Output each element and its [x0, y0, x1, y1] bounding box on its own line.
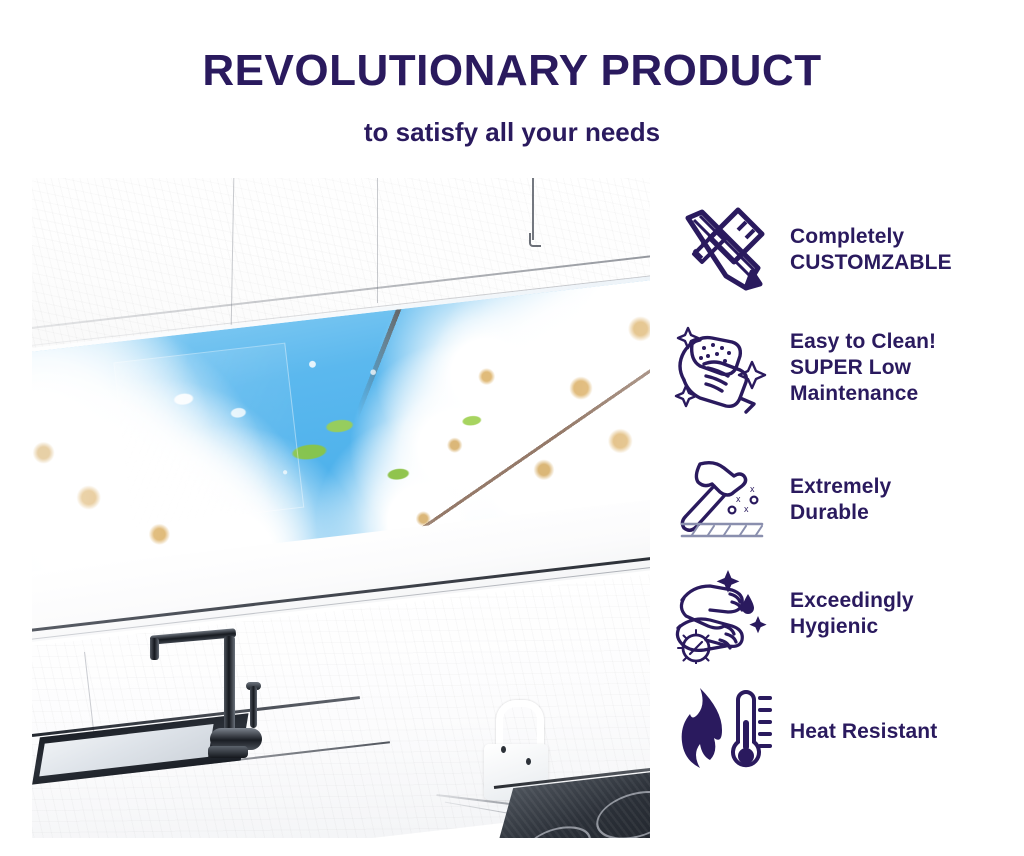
- feature-item-heat-resistant: Heat Resistant: [666, 686, 1024, 778]
- feature-label: Heat Resistant: [790, 719, 937, 745]
- page-title: REVOLUTIONARY PRODUCT: [0, 48, 1024, 94]
- feature-label: Extremely Durable: [790, 474, 891, 526]
- feature-item-durable: xxx Extremely Durable: [666, 458, 1024, 542]
- feature-list: Completely CUSTOMZABLE: [666, 196, 1024, 796]
- hammer-icon: xxx: [666, 458, 774, 542]
- feature-label: Exceedingly Hygienic: [790, 588, 914, 640]
- cabinet-seam: [377, 178, 378, 303]
- pencil-ruler-icon: [666, 204, 774, 296]
- jar-detail: [526, 758, 531, 765]
- cabinet-seam: [532, 178, 534, 240]
- kitchen-faucet: [150, 624, 270, 764]
- faucet-outlet: [150, 638, 159, 660]
- feature-item-easy-to-clean: Easy to Clean! SUPER Low Maintenance: [666, 318, 1024, 418]
- svg-text:x: x: [744, 504, 749, 514]
- faucet-base: [208, 746, 248, 758]
- svg-text:x: x: [736, 494, 741, 504]
- kitchen-photo: [32, 178, 650, 838]
- page-subtitle: to satisfy all your needs: [0, 118, 1024, 147]
- sponge-hand-icon: [666, 318, 774, 418]
- burner-ring: [590, 787, 650, 838]
- cabinet-handle: [529, 233, 541, 247]
- promo-page: REVOLUTIONARY PRODUCT to satisfy all you…: [0, 0, 1024, 856]
- burner-ring: [519, 823, 595, 838]
- faucet-lever: [250, 686, 257, 728]
- feature-item-hygienic: Exceedingly Hygienic: [666, 564, 1024, 664]
- feature-item-customizable: Completely CUSTOMZABLE: [666, 204, 1024, 296]
- svg-text:x: x: [750, 484, 755, 494]
- jar-detail: [501, 746, 506, 753]
- feature-label: Completely CUSTOMZABLE: [790, 224, 952, 276]
- feature-label: Easy to Clean! SUPER Low Maintenance: [790, 329, 936, 407]
- washing-hands-icon: [666, 564, 774, 664]
- flame-thermometer-icon: [666, 686, 774, 778]
